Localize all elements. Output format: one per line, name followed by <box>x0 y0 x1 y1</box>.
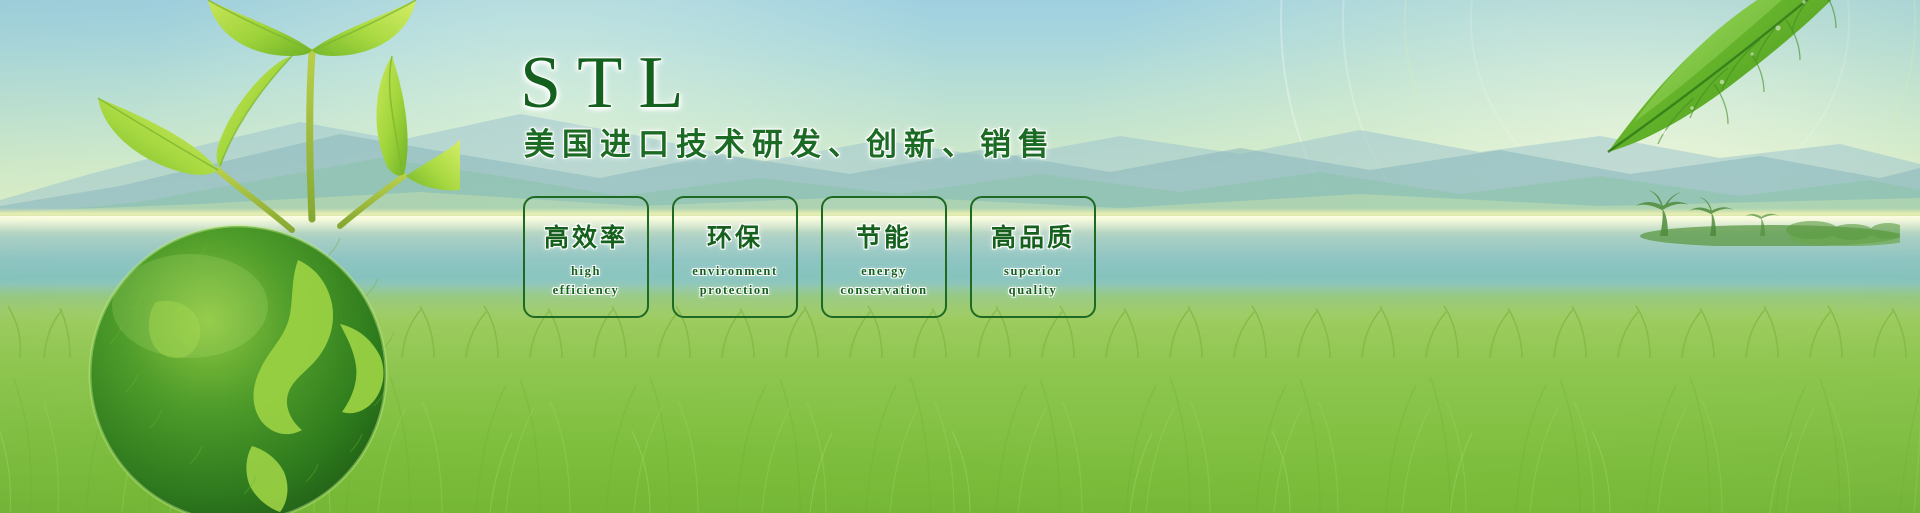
eco-technology-banner: STL 美国进口技术研发、创新、销售 高效率 high efficiency 环… <box>0 0 1920 513</box>
brand-title: STL <box>520 46 700 120</box>
feature-label-en: high efficiency <box>553 262 620 301</box>
feature-box-high-efficiency[interactable]: 高效率 high efficiency <box>523 196 649 318</box>
feature-label-cn: 高效率 <box>544 225 628 250</box>
banner-subtitle: 美国进口技术研发、创新、销售 <box>524 128 1056 162</box>
feature-label-en: environment protection <box>692 262 777 301</box>
feature-box-energy-conservation[interactable]: 节能 energy conservation <box>821 196 947 318</box>
feature-label-en: superior quality <box>1004 262 1062 301</box>
feature-label-cn: 环保 <box>707 225 763 250</box>
feature-box-environment-protection[interactable]: 环保 environment protection <box>672 196 798 318</box>
feature-label-en: energy conservation <box>840 262 927 301</box>
feature-box-list: 高效率 high efficiency 环保 environment prote… <box>523 196 1096 318</box>
feature-box-superior-quality[interactable]: 高品质 superior quality <box>970 196 1096 318</box>
feature-label-cn: 高品质 <box>991 225 1075 250</box>
banner-copy: STL 美国进口技术研发、创新、销售 高效率 high efficiency 环… <box>0 0 1920 513</box>
feature-label-cn: 节能 <box>856 225 912 250</box>
